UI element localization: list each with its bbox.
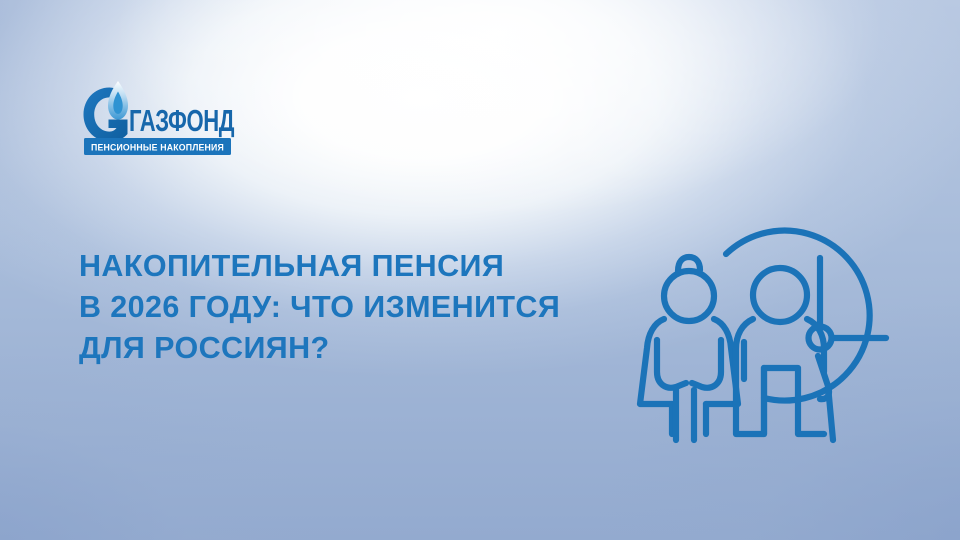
elderly-couple-with-clock-illustration xyxy=(632,158,932,450)
logo-tagline: ПЕНСИОННЫЕ НАКОПЛЕНИЯ xyxy=(91,143,224,153)
man-torso-left xyxy=(736,319,764,434)
page-title: НАКОПИТЕЛЬНАЯ ПЕНСИЯ В 2026 ГОДУ: ЧТО ИЗ… xyxy=(79,246,639,369)
gazprom-flame-g-icon xyxy=(84,81,129,142)
woman-arm-left xyxy=(657,340,686,388)
logo-wordmark: ГАЗФОНД xyxy=(129,103,234,138)
man-walking-cane xyxy=(828,386,833,440)
page-title-line-2: В 2026 ГОДУ: ЧТО ИЗМЕНИТСЯ xyxy=(79,287,639,328)
elderly-woman-figure xyxy=(640,257,738,440)
woman-head xyxy=(664,271,714,321)
clock-icon xyxy=(726,231,886,401)
man-head xyxy=(753,268,807,322)
page-title-line-3: ДЛЯ РОССИЯН? xyxy=(79,328,639,369)
banner-root: ГАЗФОНД ПЕНСИОННЫЕ НАКОПЛЕНИЯ НАКОПИТЕЛЬ… xyxy=(0,0,960,540)
woman-arm-right xyxy=(692,340,721,388)
page-title-line-1: НАКОПИТЕЛЬНАЯ ПЕНСИЯ xyxy=(79,246,639,287)
gazfond-logo[interactable]: ГАЗФОНД ПЕНСИОННЫЕ НАКОПЛЕНИЯ xyxy=(78,78,238,164)
